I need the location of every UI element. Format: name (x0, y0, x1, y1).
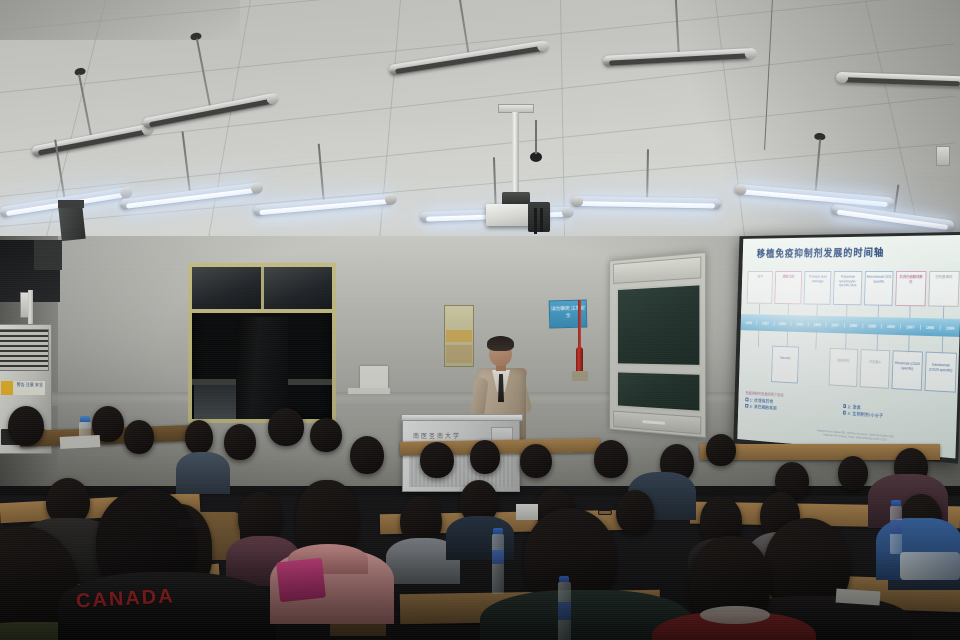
timeline-year-1980: 1980 (845, 323, 864, 328)
wall-cabinet-panel (446, 345, 472, 363)
fire-extinguisher-icon (576, 347, 583, 373)
audience-torso (176, 452, 230, 494)
timeline-box-bottom-5: 环孢素A (860, 349, 890, 389)
timeline-year-1998: 1998 (920, 324, 940, 329)
timeline-box-bottom-6: Rituximab (CD20 specific) (892, 350, 923, 390)
timeline-box-bottom-1 (744, 345, 769, 382)
ceiling-mount-right (936, 146, 950, 166)
blackboard-panel-upper (616, 283, 701, 367)
audience-head (420, 442, 454, 478)
timeline-box-bottom-4: 硫唑嘌呤 (829, 348, 859, 387)
slide-timeline-row-top: 放疗 脾脏切除 Thoracic duct drainage Polyclona… (747, 271, 960, 307)
wall-speaker-bracket-left (58, 200, 84, 208)
ac-warning-sticker: 警告 注意 安全 (1, 381, 45, 395)
timeline-box-top-7: 巴利昔单抗 (928, 271, 960, 307)
audience-head (350, 436, 384, 474)
audience-head (706, 434, 736, 466)
timeline-box-top-1: 放疗 (747, 271, 774, 304)
timeline-box-bottom-7: Daclizumab (CD25 specific) (924, 352, 957, 393)
ac-grille (0, 329, 49, 371)
audience-area: CANADA (0, 400, 960, 640)
water-bottle-2[interactable] (490, 528, 506, 594)
timeline-box-top-3: Thoracic duct drainage (803, 271, 831, 305)
timeline-year-1957: 1957 (757, 320, 774, 325)
extinguisher-pipe (578, 300, 581, 350)
timeline-box-bottom-3 (800, 347, 827, 385)
paper-sheet[interactable] (836, 588, 881, 605)
wall-notice-2 (348, 388, 390, 394)
bottle-label (890, 520, 902, 534)
timeline-year-1967: 1967 (826, 322, 844, 327)
timeline-year-1986: 1986 (863, 323, 882, 328)
extinguisher-base (572, 371, 588, 381)
ceiling-projector (488, 104, 552, 234)
eyeglasses-icon (178, 520, 198, 527)
slide-timeline-row-bottom: Steroids 硫唑嘌呤 环孢素A Rituximab (CD20 speci… (744, 345, 957, 393)
presenter-hair (487, 336, 514, 351)
water-bottle-4[interactable] (888, 500, 904, 554)
bottle-label (492, 550, 504, 564)
ceiling-shadow-right (620, 0, 960, 250)
audience-head (310, 418, 342, 452)
timeline-box-bottom-2: Steroids (771, 346, 799, 384)
window-pane-right (264, 267, 333, 309)
bottle-label (558, 602, 571, 620)
device-on-desk[interactable] (516, 504, 538, 520)
audience-head (185, 420, 213, 454)
timeline-box-top-6: 抗淋巴细胞球蛋白 (895, 271, 926, 306)
audience-head (838, 456, 868, 490)
water-bottle-3[interactable] (556, 576, 574, 640)
blackboard-header-strip (613, 256, 701, 284)
audience-head (594, 440, 628, 478)
bottle-body (492, 534, 504, 594)
wall-safety-sign: 请勿攀爬 注意安全 (549, 300, 588, 329)
ceiling-shadow-left (0, 0, 240, 40)
timeline-box-top-4: Polyclonal lymphocyte-specific sera (833, 271, 862, 305)
plastic-bag[interactable] (900, 552, 960, 580)
slide-title: 移植免疫抑制剂发展的时间轴 (757, 245, 885, 260)
classroom-window (188, 263, 336, 423)
ceiling-sensor-rod (535, 120, 537, 154)
window-pane-left (192, 267, 264, 309)
wall-speaker-left (58, 205, 85, 241)
wall-notice-1 (360, 366, 388, 388)
timeline-year-1992: 1992 (882, 323, 901, 328)
timeline-year-1900: 1900 (741, 320, 758, 325)
audience-head (470, 440, 500, 474)
audience-head (616, 490, 654, 534)
timeline-year-1997: 1997 (901, 324, 921, 329)
audience-head (520, 444, 552, 478)
window-transom (192, 267, 332, 313)
audience-head (8, 406, 44, 446)
timeline-box-top-2: 脾脏切除 (775, 271, 802, 304)
timeline-year-1999: 1999 (940, 325, 959, 330)
audience-head (124, 420, 154, 454)
coat-fur-collar (700, 606, 770, 624)
timeline-year-1959: 1959 (774, 321, 791, 326)
paper-sheet[interactable] (60, 435, 101, 449)
audience-head (224, 424, 256, 460)
photo-scene: 警告 注意 安全 请勿攀爬 注意安全 移植免疫抑制剂 (0, 0, 960, 640)
wall-cabinet-label (446, 330, 472, 342)
audience-head (268, 408, 304, 446)
pink-bag (276, 558, 326, 603)
eyeglasses-icon (598, 510, 612, 515)
timeline-year-1961: 1961 (791, 321, 809, 326)
timeline-box-top-5: Muromonab-CD3 specific (864, 271, 894, 306)
eyeglasses-icon (722, 508, 738, 513)
timeline-year-1962: 1962 (809, 322, 827, 327)
